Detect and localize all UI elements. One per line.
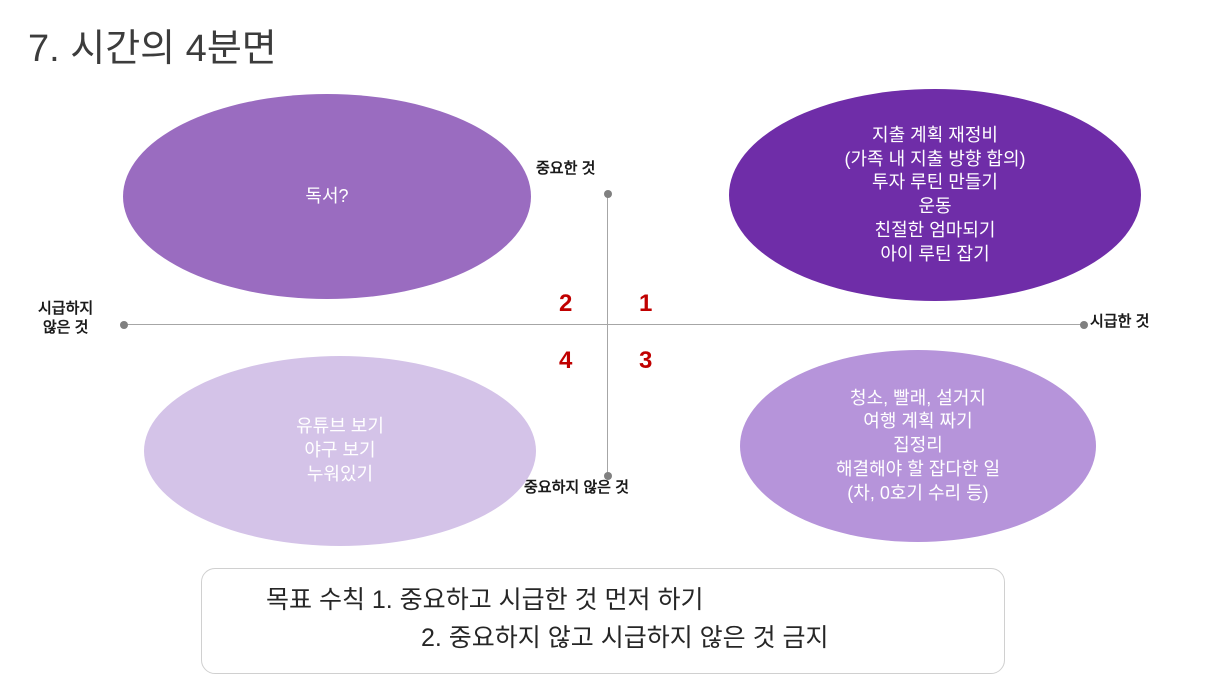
axis-endpoint-dot-left-icon — [120, 321, 128, 329]
quadrant-1-ellipse[interactable]: 지출 계획 재정비 (가족 내 지출 방향 합의) 투자 루틴 만들기 운동 친… — [729, 89, 1141, 301]
slide-canvas: 7. 시간의 4분면 중요한 것 중요하지 않은 것 시급하지 않은 것 시급한… — [0, 0, 1216, 684]
quadrant-2-ellipse[interactable]: 독서? — [123, 94, 531, 299]
vertical-axis-line — [607, 193, 608, 476]
goal-rule-line-2: 2. 중요하지 않고 시급하지 않은 것 금지 — [226, 619, 980, 657]
goal-rule-line-1: 목표 수칙 1. 중요하고 시급한 것 먼저 하기 — [226, 581, 980, 619]
axis-endpoint-dot-right-icon — [1080, 321, 1088, 329]
horizontal-axis-line — [124, 324, 1084, 325]
quadrant-number-1: 1 — [639, 292, 652, 316]
axis-label-not-important: 중요하지 않은 것 — [524, 479, 629, 498]
axis-label-important: 중요한 것 — [536, 160, 595, 179]
quadrant-number-4: 4 — [559, 349, 572, 373]
axis-label-urgent: 시급한 것 — [1090, 313, 1149, 332]
goal-rules-box: 목표 수칙 1. 중요하고 시급한 것 먼저 하기 2. 중요하지 않고 시급하… — [201, 568, 1005, 674]
axis-endpoint-dot-top-icon — [604, 190, 612, 198]
quadrant-number-2: 2 — [559, 292, 572, 316]
axis-label-not-urgent: 시급하지 않은 것 — [38, 300, 93, 338]
quadrant-3-ellipse[interactable]: 청소, 빨래, 설거지 여행 계획 짜기 집정리 해결해야 할 잡다한 일 (차… — [740, 350, 1096, 542]
quadrant-4-ellipse[interactable]: 유튜브 보기 야구 보기 누워있기 — [144, 356, 536, 546]
quadrant-number-3: 3 — [639, 349, 652, 373]
page-title: 7. 시간의 4분면 — [28, 17, 277, 72]
